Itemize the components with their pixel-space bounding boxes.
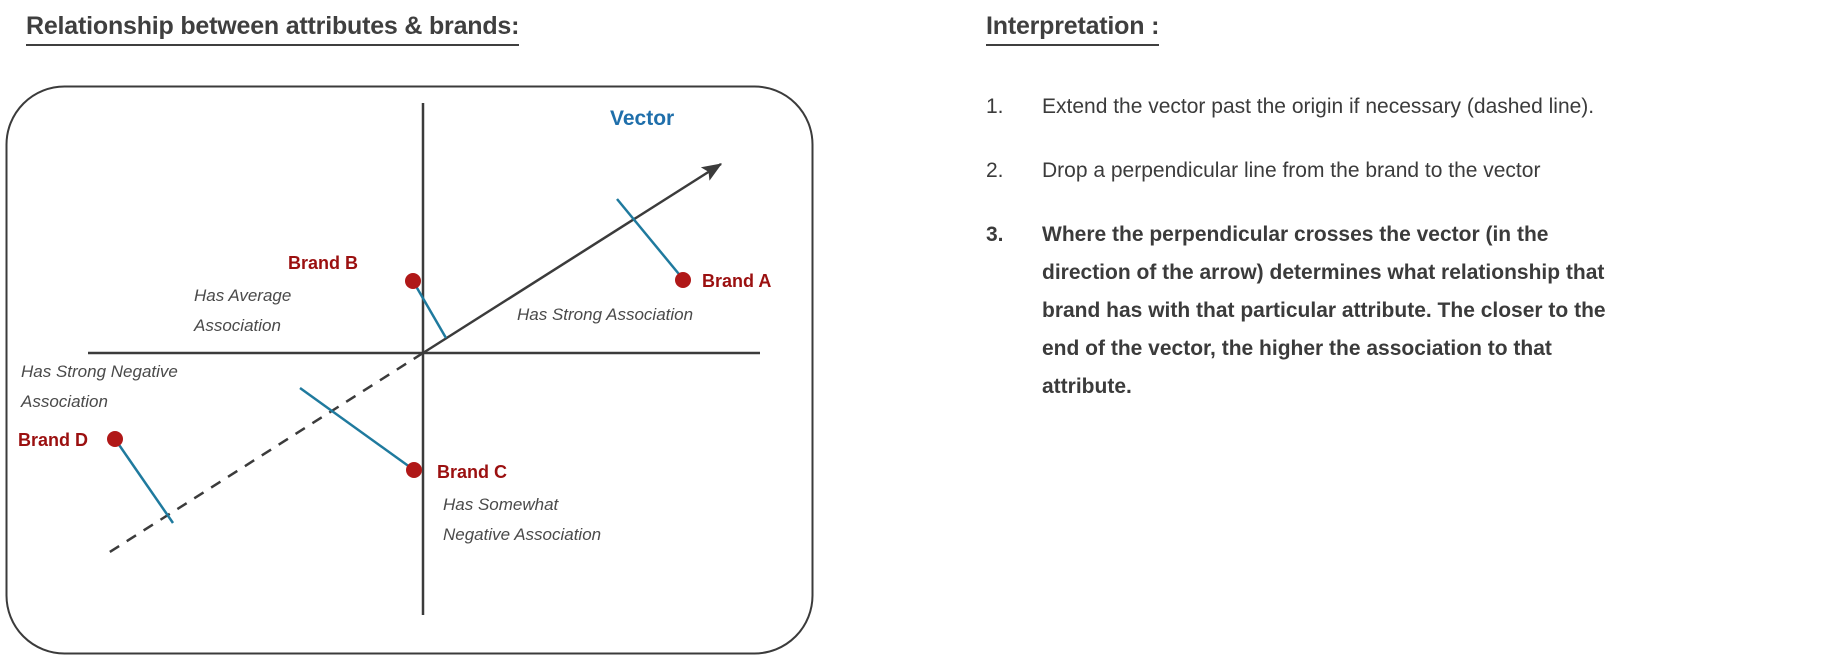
interpretation-item-2: 2. Drop a perpendicular line from the br… <box>986 152 1706 190</box>
brand-association-c-line-2: Negative Association <box>443 525 601 544</box>
vector-arrow <box>423 164 721 353</box>
interpretation-text-1: Extend the vector past the origin if nec… <box>1042 88 1594 126</box>
interpretation-number-3: 3. <box>986 216 1042 254</box>
brand-association-b-line-1: Has Average <box>194 286 291 305</box>
interpretation-text-2: Drop a perpendicular line from the brand… <box>1042 152 1540 190</box>
page-title-right: Interpretation : <box>986 12 1159 46</box>
brand-label-d: Brand D <box>18 430 88 450</box>
brand-dot-c <box>406 462 422 478</box>
page-title-left: Relationship between attributes & brands… <box>26 12 519 46</box>
interpretation-item-1: 1. Extend the vector past the origin if … <box>986 88 1706 126</box>
brand-dot-d <box>107 431 123 447</box>
perpendicular-line-brand-d <box>115 439 173 523</box>
brand-association-b-line-2: Association <box>193 316 281 335</box>
interpretation-number-2: 2. <box>986 152 1042 190</box>
brand-label-a: Brand A <box>702 271 771 291</box>
brand-association-a-line-1: Has Strong Association <box>517 305 693 324</box>
brand-dot-a <box>675 272 691 288</box>
interpretation-text-3: Where the perpendicular crosses the vect… <box>1042 216 1642 406</box>
brand-association-c-line-1: Has Somewhat <box>443 495 560 514</box>
brand-attribute-diagram: Vector Brand A Has Strong Association Br… <box>5 85 815 655</box>
brand-dot-b <box>405 273 421 289</box>
vector-dashed-extension <box>105 353 423 555</box>
perpendicular-line-brand-b <box>413 281 446 338</box>
diagram-canvas: Vector Brand A Has Strong Association Br… <box>5 85 815 655</box>
brand-label-b: Brand B <box>288 253 358 273</box>
brand-association-d-line-1: Has Strong Negative <box>21 362 178 381</box>
perpendicular-line-brand-a <box>617 199 683 279</box>
brand-association-d-line-2: Association <box>20 392 108 411</box>
brand-label-c: Brand C <box>437 462 507 482</box>
vector-label: Vector <box>610 107 674 130</box>
perpendicular-line-brand-c <box>300 388 414 470</box>
interpretation-number-1: 1. <box>986 88 1042 126</box>
interpretation-item-3: 3. Where the perpendicular crosses the v… <box>986 216 1706 406</box>
interpretation-list: 1. Extend the vector past the origin if … <box>986 88 1706 432</box>
